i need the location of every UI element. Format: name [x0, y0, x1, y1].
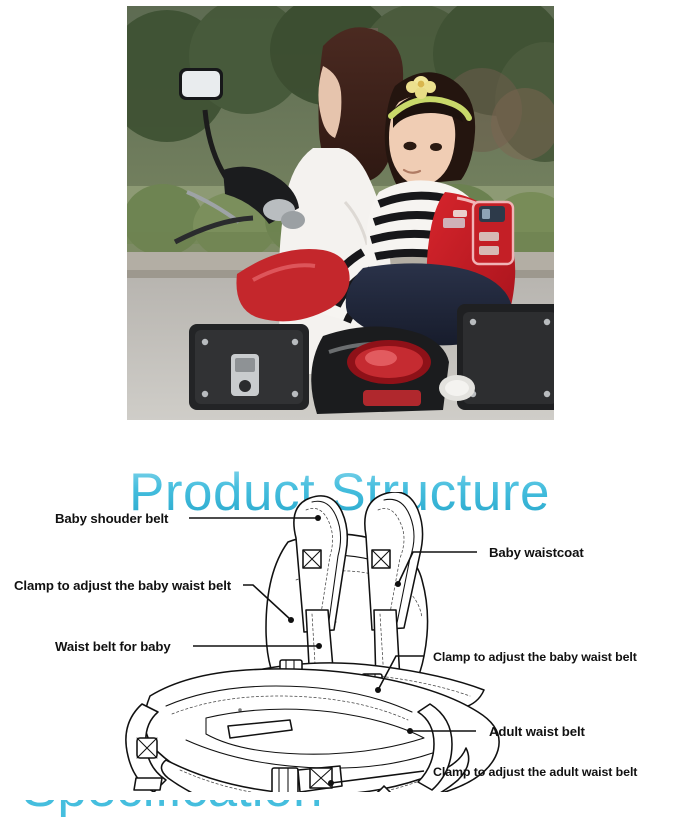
label-baby-shoulder-belt: Baby shouder belt — [55, 511, 169, 526]
product-photo-image — [127, 6, 554, 420]
label-adult-waist-belt: Adult waist belt — [489, 724, 586, 739]
label-baby-waistcoat: Baby waistcoat — [489, 545, 584, 560]
label-waist-belt-for-baby: Waist belt for baby — [55, 639, 171, 654]
product-photo — [127, 6, 554, 420]
label-clamp-adult-waist-belt: Clamp to adjust the adult waist belt — [433, 765, 637, 779]
diagram-illustration: Baby shouder belt Clamp to adjust the ba… — [0, 492, 679, 792]
carrier-artwork — [126, 492, 499, 792]
next-section-heading-text: Specification — [22, 800, 323, 815]
label-clamp-baby-waist-belt-right: Clamp to adjust the baby waist belt — [433, 650, 637, 664]
next-section-heading-clipped: Specification — [0, 800, 679, 818]
product-structure-diagram: Baby shouder belt Clamp to adjust the ba… — [0, 492, 679, 792]
label-clamp-baby-waist-belt-left: Clamp to adjust the baby waist belt — [14, 578, 232, 593]
